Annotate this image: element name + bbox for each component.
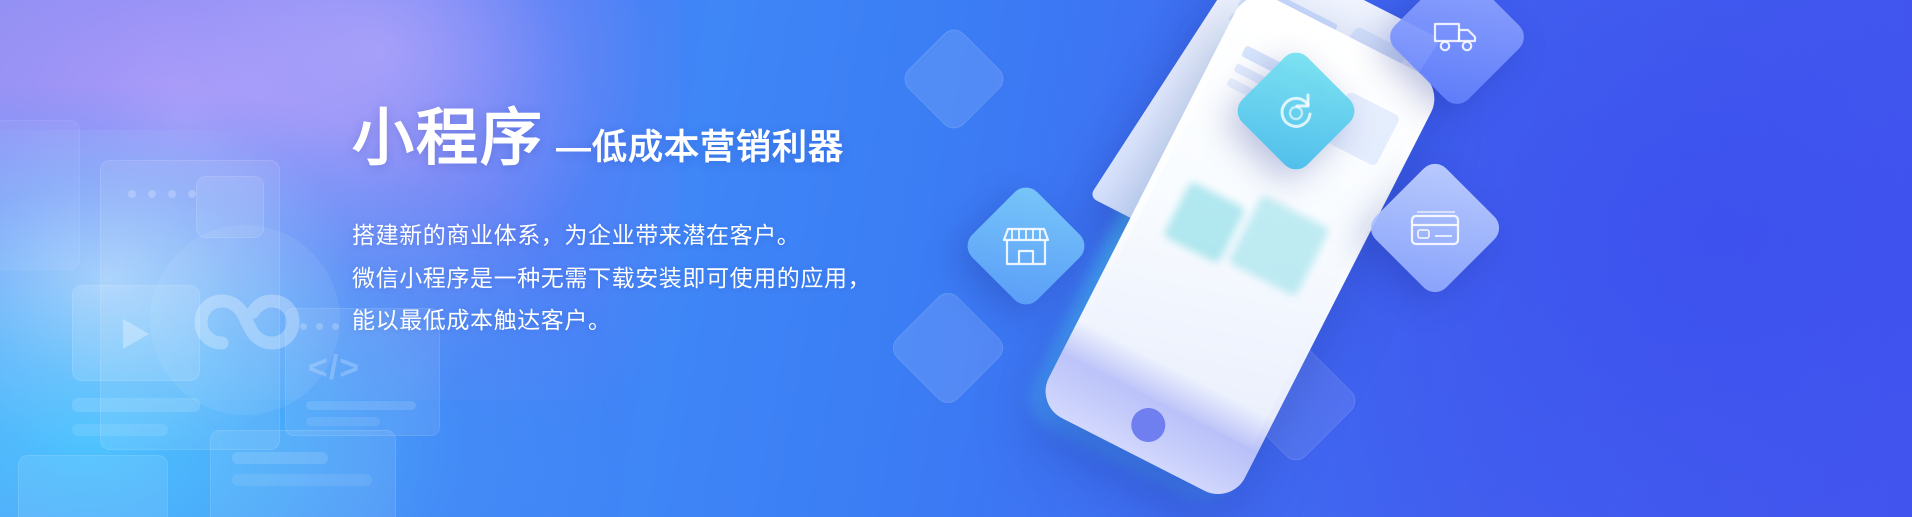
headline: 小程序 —低成本营销利器 [352, 108, 992, 170]
banner-copy: 小程序 —低成本营销利器 搭建新的商业体系，为企业带来潜在客户。 微信小程序是一… [352, 108, 992, 342]
background-highlight-left [0, 130, 360, 460]
body-line-1: 搭建新的商业体系，为企业带来潜在客户。 [352, 214, 992, 257]
phone-illustration [1010, 0, 1570, 517]
promo-banner: </> 小程序 —低成本营销利器 搭建新的商业体系，为企业带来潜在客户。 微信小… [0, 0, 1912, 517]
body-copy: 搭建新的商业体系，为企业带来潜在客户。 微信小程序是一种无需下载安装即可使用的应… [352, 214, 992, 342]
body-line-3: 能以最低成本触达客户。 [352, 299, 992, 342]
headline-sub-text: —低成本营销利器 [556, 130, 844, 170]
headline-main-text: 小程序 [352, 108, 544, 170]
body-line-2: 微信小程序是一种无需下载安装即可使用的应用， [352, 257, 992, 300]
smartphone-mockup [1035, 0, 1444, 504]
